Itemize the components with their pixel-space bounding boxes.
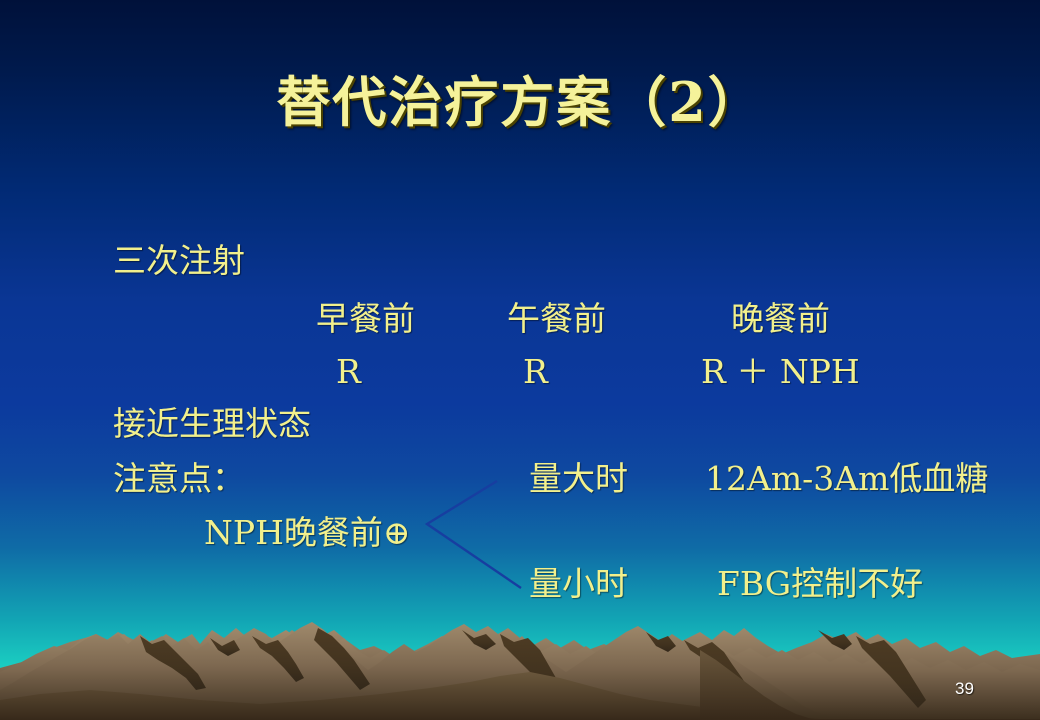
injections-label: 三次注射 xyxy=(113,244,245,277)
note-result-low-dose: FBG控制不好 xyxy=(717,567,923,600)
schedule-header-breakfast: 早餐前 xyxy=(316,302,415,335)
slide-title: 替代治疗方案（2） xyxy=(0,58,1040,137)
mountain-shadow-faces xyxy=(140,628,926,708)
nph-dinner-note: NPH晚餐前⊕ xyxy=(204,516,411,549)
caution-label: 注意点： xyxy=(113,462,245,495)
mountain-front-mass xyxy=(0,672,1040,720)
note-condition-high-dose: 量大时 xyxy=(529,462,628,495)
note-condition-low-dose: 量小时 xyxy=(529,567,628,600)
mountain-peaks-light xyxy=(0,622,1040,720)
slide-canvas: 替代治疗方案（2） 三次注射 早餐前 午餐前 晚餐前 R R R ＋ NPH 接… xyxy=(0,0,1040,720)
mountain-right-slope xyxy=(700,650,812,719)
schedule-dose-lunch: R xyxy=(523,355,548,388)
mountain-ridge-back xyxy=(0,626,1040,720)
physiologic-label: 接近生理状态 xyxy=(113,407,311,440)
schedule-dose-dinner: R ＋ NPH xyxy=(701,355,860,388)
schedule-header-lunch: 午餐前 xyxy=(507,302,606,335)
note-result-high-dose: 12Am-3Am低血糖 xyxy=(705,462,988,495)
schedule-header-dinner: 晚餐前 xyxy=(731,302,830,335)
page-number: 39 xyxy=(955,679,974,699)
schedule-dose-breakfast: R xyxy=(336,355,361,388)
mountain-ridge-main xyxy=(0,630,1040,720)
